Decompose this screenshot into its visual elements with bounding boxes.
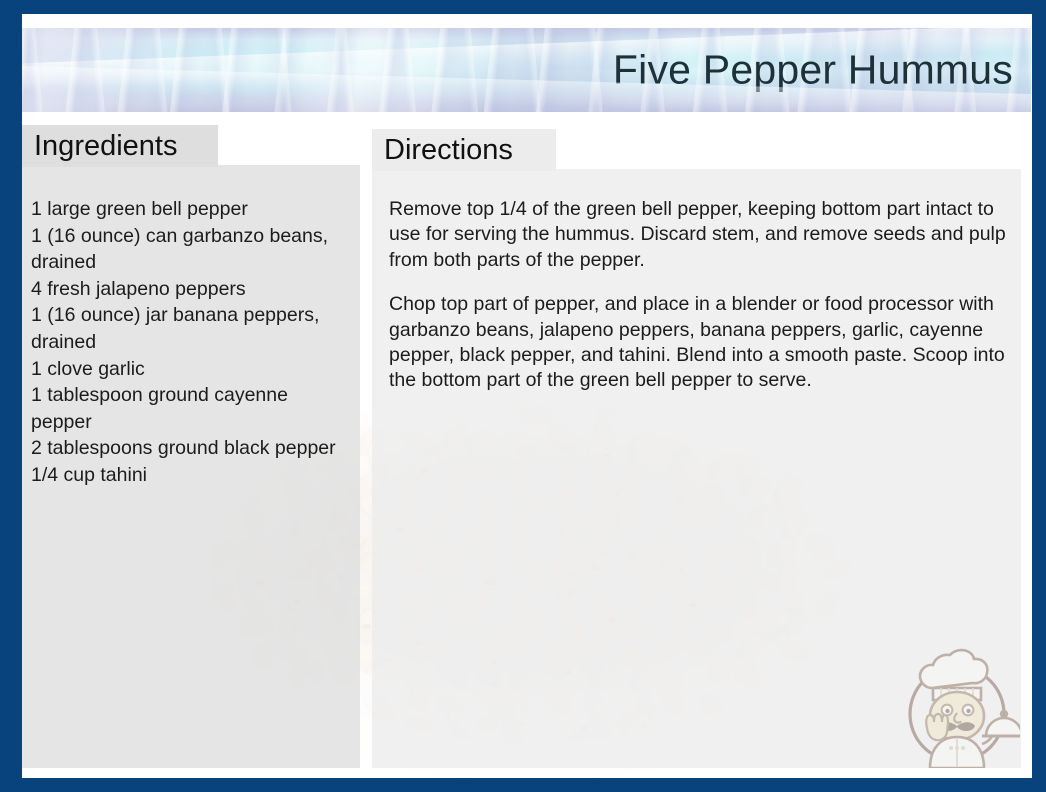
ingredient-item: 1 large green bell pepper [31, 196, 353, 223]
ingredient-item: 4 fresh jalapeno peppers [31, 276, 353, 303]
ingredient-item: 1 (16 ounce) can garbanzo beans, drained [31, 223, 353, 276]
ingredient-item: 1 tablespoon ground cayenne pepper [31, 382, 353, 435]
directions-panel: Remove top 1/4 of the green bell pepper,… [372, 169, 1021, 768]
direction-paragraph: Chop top part of pepper, and place in a … [389, 292, 1017, 394]
ingredients-panel: 1 large green bell pepper1 (16 ounce) ca… [22, 165, 360, 768]
ingredient-item: 1 (16 ounce) jar banana peppers, drained [31, 302, 353, 355]
recipe-card: Five Pepper Hummus 1 large green bell pe… [0, 0, 1046, 792]
direction-paragraph: Remove top 1/4 of the green bell pepper,… [389, 197, 1017, 273]
ingredients-list: 1 large green bell pepper1 (16 ounce) ca… [31, 196, 353, 489]
directions-tab: Directions [372, 129, 556, 171]
ingredients-tab: Ingredients [22, 125, 218, 167]
ingredient-item: 1/4 cup tahini [31, 462, 353, 489]
recipe-title: Five Pepper Hummus [613, 47, 1013, 94]
ingredient-item: 1 clove garlic [31, 356, 353, 383]
header-banner: Five Pepper Hummus [22, 28, 1031, 112]
card-inner: Five Pepper Hummus 1 large green bell pe… [22, 14, 1032, 778]
directions-text: Remove top 1/4 of the green bell pepper,… [389, 197, 1017, 394]
ingredient-item: 2 tablespoons ground black pepper [31, 435, 353, 462]
